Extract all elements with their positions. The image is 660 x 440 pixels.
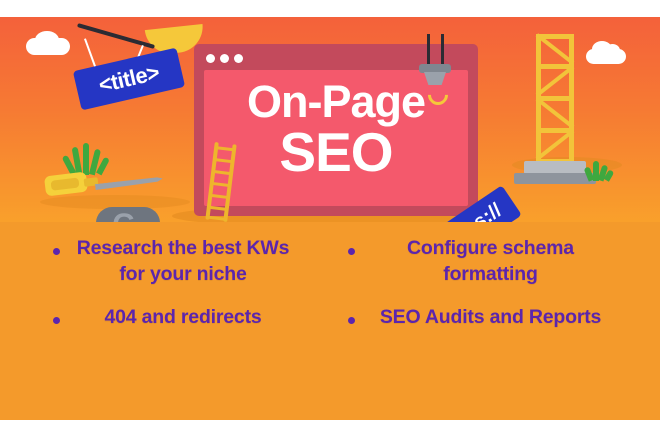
bullet-column-left: Research the best KWs for your niche 404… xyxy=(0,236,330,349)
bullet-panel: Research the best KWs for your niche 404… xyxy=(0,222,660,420)
slide-stage: G On-Page SEO xyxy=(0,0,660,440)
crane-pulley-top xyxy=(419,64,451,73)
bullet-column-right: Configure schema formatting SEO Audits a… xyxy=(330,236,660,349)
crane-tower-icon xyxy=(536,34,574,164)
cloud-icon-right xyxy=(586,49,626,64)
bottom-letterbox xyxy=(0,420,660,440)
screwdriver-shaft xyxy=(95,176,163,190)
hero-illustration: G On-Page SEO xyxy=(0,17,660,222)
cloud-icon-left xyxy=(26,38,70,55)
page-title-line-1: On-Page xyxy=(204,80,468,124)
window-dot-minimize-icon[interactable] xyxy=(220,54,229,63)
crane-cable-right xyxy=(441,34,444,67)
bullet-dot-icon xyxy=(53,317,60,324)
list-item: Research the best KWs for your niche xyxy=(0,236,330,287)
crane-cable-left xyxy=(427,34,430,67)
bullet-label: 404 and redirects xyxy=(60,305,330,331)
screwdriver-handle-icon xyxy=(44,172,88,197)
bullet-dot-icon xyxy=(348,317,355,324)
window-dot-close-icon[interactable] xyxy=(206,54,215,63)
grass-icon-right xyxy=(586,159,612,181)
bullet-label: Research the best KWs for your niche xyxy=(60,236,330,287)
wheel-letter: G xyxy=(104,208,144,222)
bullet-dot-icon xyxy=(348,248,355,255)
crane-base-lower xyxy=(514,173,596,184)
page-title-line-2: SEO xyxy=(204,126,468,180)
list-item: Configure schema formatting xyxy=(330,236,660,287)
bullet-label: SEO Audits and Reports xyxy=(355,305,660,331)
window-dot-maximize-icon[interactable] xyxy=(234,54,243,63)
bullet-dot-icon xyxy=(53,248,60,255)
list-item: SEO Audits and Reports xyxy=(330,305,660,331)
list-item: 404 and redirects xyxy=(0,305,330,331)
top-letterbox xyxy=(0,0,660,17)
grass-icon-left xyxy=(66,143,108,175)
bullet-columns: Research the best KWs for your niche 404… xyxy=(0,236,660,349)
bullet-label: Configure schema formatting xyxy=(355,236,660,287)
